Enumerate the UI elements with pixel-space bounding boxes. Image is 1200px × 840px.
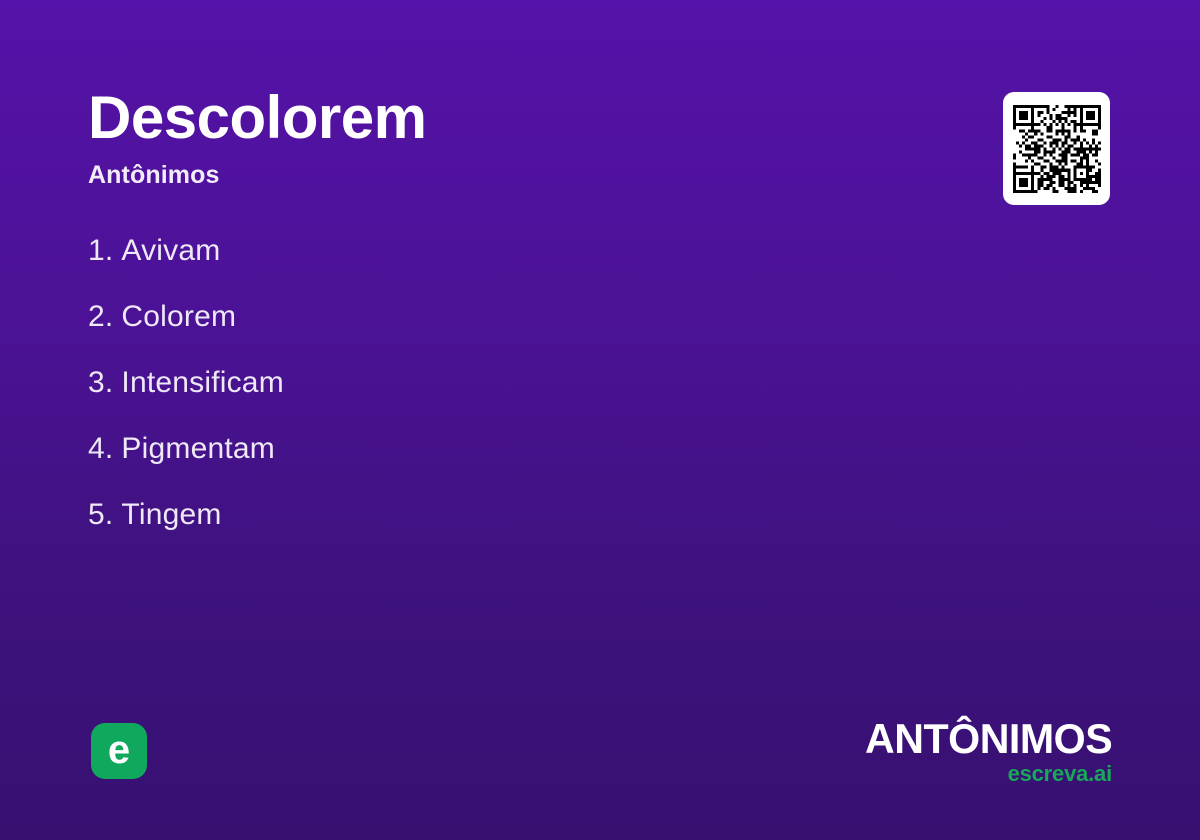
list-item: 3.Intensificam: [88, 368, 284, 398]
list-item-index: 4.: [88, 432, 113, 465]
qr-code-icon: [1013, 105, 1101, 193]
list-item-index: 1.: [88, 234, 113, 267]
list-item-index: 3.: [88, 366, 113, 399]
list-item: 5.Tingem: [88, 500, 284, 530]
list-item-word: Colorem: [121, 300, 236, 333]
wordmark-subtitle: escreva.ai: [860, 763, 1112, 785]
list-item: 4.Pigmentam: [88, 434, 284, 464]
page-subtitle: Antônimos: [88, 161, 426, 190]
brand-logo-letter: e: [108, 730, 130, 770]
header: Descolorem Antônimos: [88, 86, 426, 190]
page-title: Descolorem: [88, 86, 426, 151]
qr-code-card[interactable]: [1003, 92, 1110, 205]
list-item-index: 2.: [88, 300, 113, 333]
list-item-word: Pigmentam: [121, 432, 275, 465]
wordmark-title: ANTÔNIMOS: [865, 718, 1112, 760]
list-item-word: Tingem: [121, 498, 221, 531]
antonyms-card: Descolorem Antônimos 1.Avivam 2.Colorem …: [0, 0, 1200, 840]
list-item: 1.Avivam: [88, 236, 284, 266]
footer-wordmark: ANTÔNIMOS escreva.ai: [860, 718, 1112, 785]
list-item-word: Intensificam: [121, 366, 283, 399]
list-item: 2.Colorem: [88, 302, 284, 332]
brand-logo-badge: e: [91, 723, 147, 779]
antonym-list: 1.Avivam 2.Colorem 3.Intensificam 4.Pigm…: [88, 236, 284, 566]
list-item-word: Avivam: [121, 234, 220, 267]
list-item-index: 5.: [88, 498, 113, 531]
